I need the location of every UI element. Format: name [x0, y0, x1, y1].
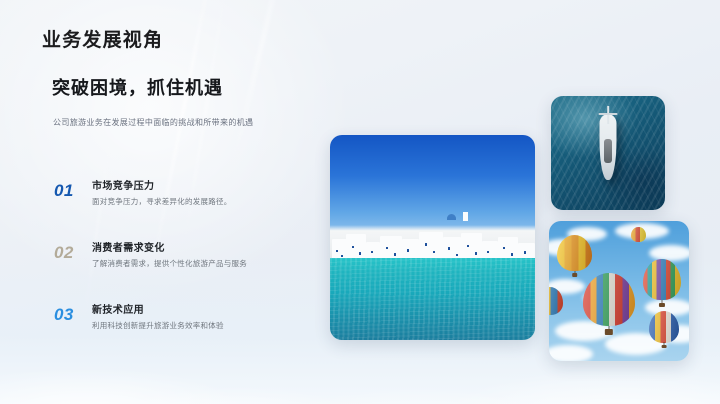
list-item-title: 新技术应用 [92, 304, 310, 318]
photo-greek-island-village[interactable] [330, 135, 535, 340]
list-item-description: 了解消费者需求，提供个性化旅游产品与服务 [92, 259, 310, 270]
balloon-blue [649, 311, 679, 348]
photo-hot-air-balloons[interactable] [549, 221, 689, 361]
photo-boat-deck [604, 139, 612, 163]
photo-aerial-sailboat[interactable] [551, 96, 665, 210]
list-item-number: 02 [54, 244, 74, 261]
balloon-center [583, 273, 635, 335]
list-item-body: 新技术应用 利用科技创新提升旅游业务效率和体验 [92, 304, 310, 331]
list-item-body: 市场竞争压力 面对竞争压力，寻求差异化的发展路径。 [92, 180, 310, 207]
list-item-title: 市场竞争压力 [92, 180, 310, 194]
list-item-number: 03 [54, 306, 74, 323]
page-title: 业务发展视角 [42, 25, 163, 52]
list-item-number: 01 [54, 182, 74, 199]
balloon-striped-right [643, 259, 681, 307]
list-item-title: 消费者需求变化 [92, 242, 310, 256]
balloon-small-far [631, 227, 646, 245]
photo-boat-mast [607, 106, 609, 124]
balloon-yellow [557, 235, 592, 277]
headline: 突破困境，抓住机遇 [52, 74, 223, 100]
list-item-body: 消费者需求变化 了解消费者需求，提供个性化旅游产品与服务 [92, 242, 310, 269]
numbered-list: 01 市场竞争压力 面对竞争压力，寻求差异化的发展路径。 02 消费者需求变化 … [54, 180, 310, 366]
balloon-edge-left [549, 287, 563, 319]
list-item[interactable]: 02 消费者需求变化 了解消费者需求，提供个性化旅游产品与服务 [54, 242, 310, 304]
list-item-description: 利用科技创新提升旅游业务效率和体验 [92, 321, 310, 332]
list-item[interactable]: 01 市场竞争压力 面对竞争压力，寻求差异化的发展路径。 [54, 180, 310, 242]
photo-sea [330, 258, 535, 340]
list-item-description: 面对竞争压力，寻求差异化的发展路径。 [92, 197, 310, 208]
text-column: 业务发展视角 突破困境，抓住机遇 公司旅游业务在发展过程中面临的挑战和所带来的机… [42, 0, 310, 404]
photo-boat-boom [599, 113, 618, 115]
subheading: 公司旅游业务在发展过程中面临的挑战和所带来的机遇 [53, 117, 253, 128]
list-item[interactable]: 03 新技术应用 利用科技创新提升旅游业务效率和体验 [54, 304, 310, 366]
presentation-slide: 业务发展视角 突破困境，抓住机遇 公司旅游业务在发展过程中面临的挑战和所带来的机… [0, 0, 720, 404]
